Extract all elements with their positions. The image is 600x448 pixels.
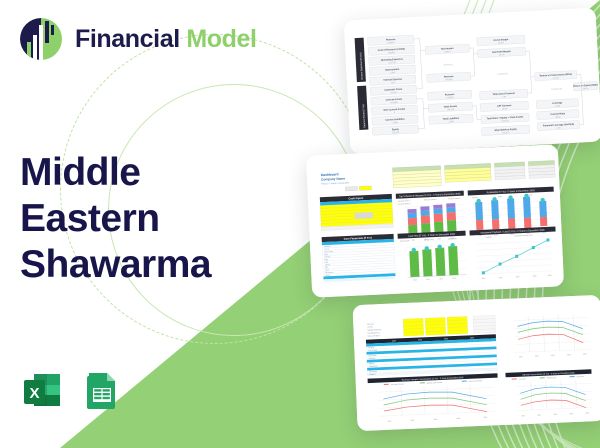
svg-text:10,033: 10,033 — [390, 92, 397, 94]
svg-text:Low Case: Low Case — [519, 378, 526, 380]
svg-text:Equity: Equity — [392, 128, 400, 131]
svg-text:Revenue: Revenue — [324, 246, 331, 248]
svg-text:COGS: COGS — [367, 326, 373, 328]
svg-text:Opex: Opex — [324, 254, 328, 256]
svg-text:2023: 2023 — [537, 414, 541, 416]
svg-text:High Case: High Case — [577, 376, 584, 378]
brand-word-financial: Financial — [75, 25, 180, 53]
svg-text:2024: 2024 — [444, 338, 448, 340]
svg-text:2022: 2022 — [412, 239, 416, 241]
page-title: Middle Eastern Shawarma — [20, 150, 270, 288]
svg-text:2024: 2024 — [551, 355, 555, 357]
svg-text:EBT: EBT — [325, 267, 328, 269]
svg-text:2025: 2025 — [569, 413, 573, 415]
svg-text:2024: 2024 — [438, 238, 442, 240]
svg-text:27.5%: 27.5% — [553, 77, 559, 79]
svg-text:2024: 2024 — [439, 278, 443, 280]
svg-text:101,570: 101,570 — [392, 132, 400, 134]
svg-text:113,728: 113,728 — [388, 62, 396, 64]
svg-text:104,156: 104,156 — [447, 109, 455, 111]
svg-text:2025: 2025 — [567, 354, 571, 356]
svg-text:2022: 2022 — [478, 235, 482, 237]
dupont-diagram-preview: Income Statement (5 Yrs) Balance Sheet (… — [344, 7, 600, 154]
svg-text:102,656: 102,656 — [390, 102, 398, 104]
dashboard-card[interactable]: Dashboard Company Name Period: 5 Years t… — [306, 144, 564, 297]
svg-text:Payback: Payback — [486, 236, 492, 238]
svg-text:2024: 2024 — [510, 233, 514, 235]
svg-text:101,570: 101,570 — [502, 132, 510, 134]
svg-text:2025: 2025 — [470, 337, 474, 339]
title-line-1: Middle — [20, 150, 270, 196]
svg-text:2026: 2026 — [483, 417, 487, 419]
svg-text:Revenue: Revenue — [368, 347, 374, 349]
svg-text:2022: 2022 — [413, 279, 417, 281]
svg-text:Closing Cash: Closing Cash — [448, 238, 457, 240]
svg-text:144,800: 144,800 — [446, 97, 454, 99]
svg-text:Margin: Margin — [325, 275, 330, 277]
svg-text:2026: 2026 — [548, 275, 552, 277]
svg-text:Expenses: Expenses — [369, 358, 376, 360]
svg-text:104,156: 104,156 — [501, 120, 509, 122]
svg-text:X: X — [29, 385, 39, 402]
projections-card[interactable]: RevenueCOGS Variable ExpensesFixed Expen… — [352, 295, 600, 431]
svg-text:2023: 2023 — [494, 234, 498, 236]
svg-text:28.2%: 28.2% — [583, 88, 589, 90]
svg-text:2,686: 2,686 — [393, 122, 399, 124]
svg-text:2025: 2025 — [452, 278, 456, 280]
svg-text:58,388: 58,388 — [388, 52, 395, 54]
svg-text:144,800: 144,800 — [445, 79, 453, 81]
brand-logo: Financial Model — [18, 16, 257, 62]
svg-text:Cash Inputs: Cash Inputs — [348, 196, 364, 201]
svg-text:2023: 2023 — [499, 277, 503, 279]
svg-text:2024: 2024 — [516, 276, 520, 278]
svg-text:Taxes: Taxes — [325, 269, 329, 271]
svg-text:146,800: 146,800 — [387, 42, 395, 44]
brand-wordmark: Financial Model — [75, 27, 257, 52]
svg-text:2022: 2022 — [521, 415, 525, 417]
title-line-2: Eastern — [20, 196, 270, 242]
projections-preview: RevenueCOGS Variable ExpensesFixed Expen… — [352, 295, 600, 431]
dashboard-preview: Dashboard Company Name Period: 5 Years t… — [306, 144, 564, 297]
svg-text:COGS: COGS — [324, 249, 329, 251]
svg-text:multiplied by: multiplied by — [497, 72, 508, 76]
svg-text:Revenue: Revenue — [472, 197, 478, 199]
svg-text:Revenue: Revenue — [367, 323, 374, 325]
google-sheets-icon[interactable] — [80, 368, 124, 412]
svg-text:2023: 2023 — [426, 279, 430, 281]
svg-text:2022: 2022 — [482, 278, 486, 280]
svg-text:2026: 2026 — [542, 232, 546, 234]
svg-text:2023: 2023 — [411, 420, 415, 422]
svg-text:2023: 2023 — [418, 339, 422, 341]
svg-text:2026: 2026 — [585, 412, 589, 414]
excel-icon[interactable]: X — [20, 368, 64, 412]
svg-text:2022: 2022 — [388, 421, 392, 423]
svg-text:2024: 2024 — [434, 419, 438, 421]
svg-text:2025: 2025 — [457, 418, 461, 420]
svg-text:2025: 2025 — [526, 233, 530, 235]
svg-text:2025: 2025 — [533, 275, 537, 277]
financial-model-circle-bars-logo — [18, 16, 64, 62]
svg-text:28,614: 28,614 — [444, 51, 451, 53]
svg-text:multiplied by: multiplied by — [551, 87, 562, 91]
svg-text:2026: 2026 — [583, 353, 587, 355]
svg-text:2024: 2024 — [553, 414, 557, 416]
svg-text:Opening Cash: Opening Cash — [400, 240, 410, 242]
svg-text:2023: 2023 — [535, 355, 539, 357]
svg-text:19.7%: 19.7% — [499, 54, 505, 56]
brand-word-model: Model — [186, 25, 256, 53]
poster-canvas: Financial Model Middle Eastern Shawarma … — [0, 0, 600, 448]
svg-text:2022: 2022 — [392, 340, 396, 342]
title-line-3: Shawarma — [20, 242, 270, 288]
svg-text:60.0%: 60.0% — [498, 42, 504, 44]
dupont-diagram-card[interactable]: Income Statement (5 Yrs) Balance Sheet (… — [344, 7, 600, 154]
svg-text:Variable Expenses: Variable Expenses — [367, 328, 381, 332]
file-format-icons: X — [20, 368, 124, 412]
svg-text:2022: 2022 — [519, 356, 523, 358]
svg-text:EBIT: EBIT — [325, 262, 329, 264]
svg-text:Interest & Taxes: Interest & Taxes — [368, 334, 380, 338]
svg-text:Medium Case: Medium Case — [547, 377, 556, 379]
